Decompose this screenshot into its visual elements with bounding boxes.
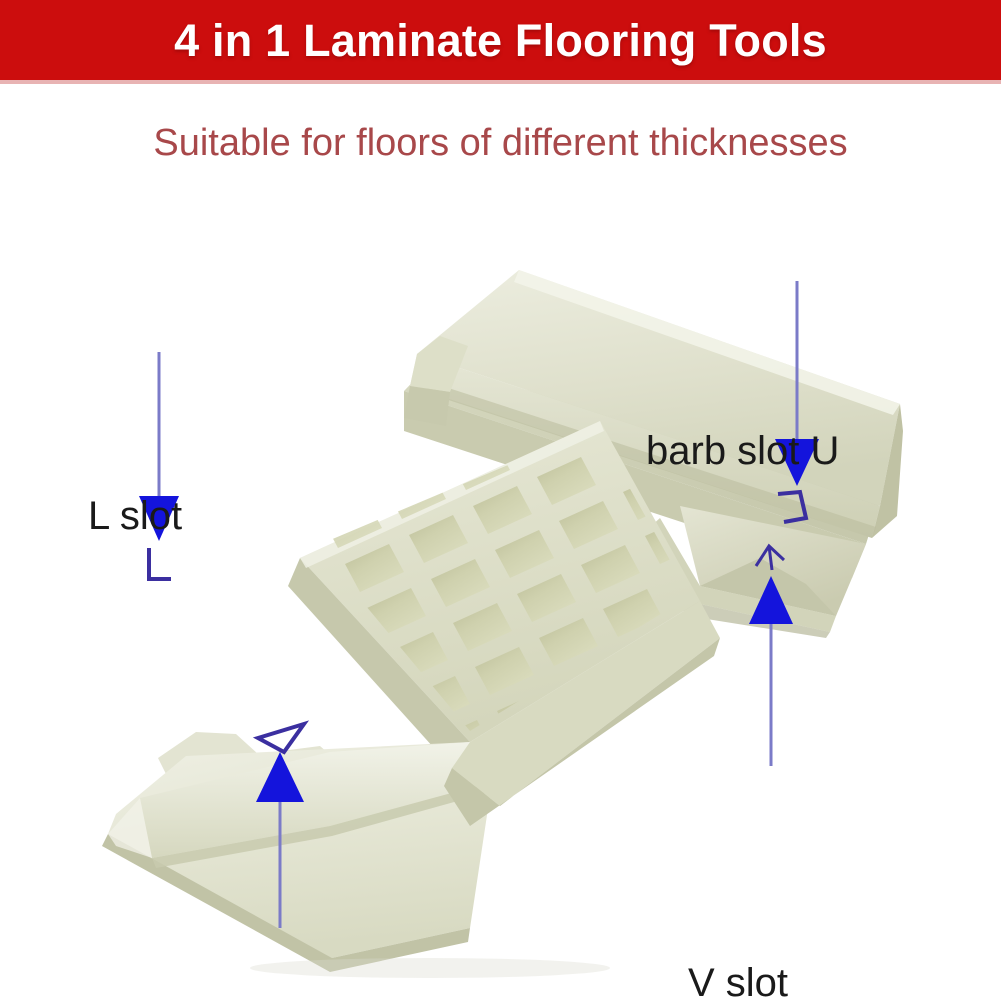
v-slot-marker-icon [756,546,784,570]
header-subtitle: Suitable for floors of different thickne… [0,122,1001,166]
v-slot-arrowhead [749,576,793,624]
callout-diagonal-slot [256,724,304,928]
l-slot-marker-icon [149,548,171,579]
diagonal-slot-arrowhead [256,752,304,802]
callout-barb-slot-u [775,281,819,522]
diagonal-slot-marker-icon [258,724,304,752]
callout-label-barb-slot-u: barb slot U [646,431,839,471]
barb-slot-u-marker-icon [778,492,806,522]
product-photo-stage: L slot barb slot U V slot diagonal slot [0,186,1001,1001]
callout-v-slot [749,546,793,766]
page-title: 4 in 1 Laminate Flooring Tools [174,18,827,63]
annotation-overlay [0,186,1001,1001]
callout-label-v-slot: V slot [688,963,788,1001]
product-infographic: 4 in 1 Laminate Flooring Tools Suitable … [0,0,1001,1001]
callout-l-slot [139,352,179,579]
callout-label-l-slot: L slot [88,496,182,536]
header-banner: 4 in 1 Laminate Flooring Tools [0,0,1001,80]
banner-underline [0,80,1001,84]
